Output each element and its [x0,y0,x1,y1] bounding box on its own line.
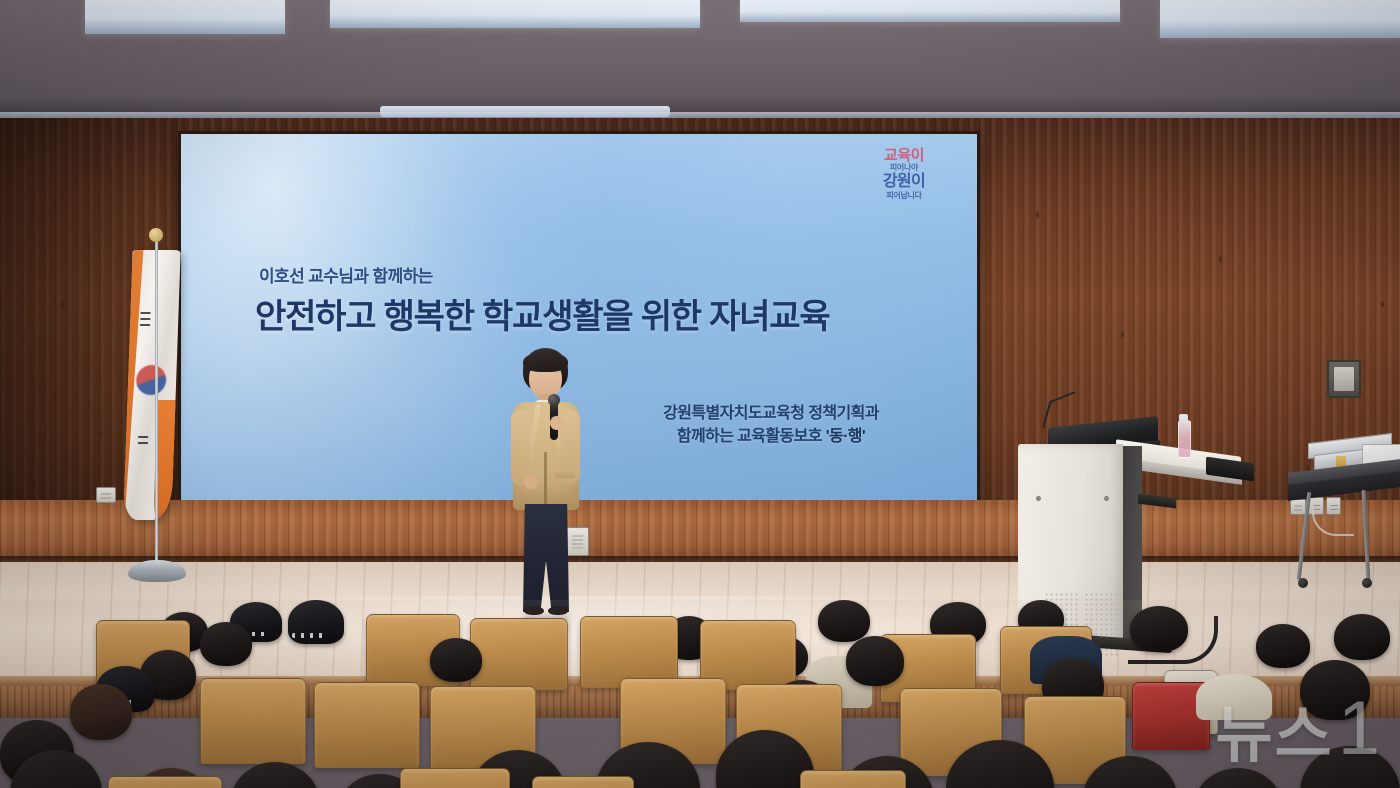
speaker-left-arm [511,410,530,486]
podium-lock-knob[interactable] [1036,496,1041,501]
taeguk-symbol [136,365,167,395]
audience-head [818,600,870,642]
audience-head [230,762,320,788]
watermark-numeral: 1 [1338,699,1382,758]
audience-seating-area [0,600,1400,788]
table-caster-wheel [1298,578,1308,588]
table-leg [1362,490,1371,580]
microphone-head-icon [548,394,560,406]
audience-chair[interactable] [200,678,306,764]
audience-head [1256,624,1310,668]
wood-knot [98,430,103,439]
watermark-text: 뉴스 [1216,684,1334,774]
wall-outlet[interactable] [96,487,116,503]
news1-watermark: 뉴스 1 [1216,684,1382,774]
audience-head [1334,614,1390,660]
audience-head [1130,606,1188,652]
audience-head [846,636,904,686]
skylight-panel [330,0,700,28]
speaker-person [495,348,595,628]
speaker-jacket-placket [544,452,547,510]
podium-lock-knob[interactable] [1104,496,1109,501]
audience-chair[interactable] [108,776,222,788]
wood-knot [1035,210,1040,219]
speaker-trousers [523,504,569,612]
flag-finial-ornament [149,228,163,242]
ceiling-light-bar [380,106,670,117]
audience-chair[interactable] [314,682,420,768]
auditorium-photo-scene: 교육이 피어나야 강원이 피어납니다 이호선 교수님과 함께하는 안전하고 행복… [0,0,1400,788]
skylight-panel [85,0,285,34]
korean-flag-cloth [123,250,180,520]
flag-trigram [140,318,150,320]
podium-microphone-stem [1042,400,1052,427]
audience-chair[interactable] [400,768,510,788]
audience-head [430,638,482,682]
speaker-hair-fringe [523,352,568,372]
audience-head [70,684,132,740]
table-caster-wheel [1362,578,1372,588]
flag-trigram [138,442,148,444]
wood-knot [60,300,65,309]
table-cable [1312,498,1354,536]
speaker-left-hand [524,476,538,489]
side-equipment-table [1288,428,1400,603]
skylight-panel [1160,0,1400,38]
wall-control-panel[interactable] [1327,360,1361,398]
audience-chair[interactable] [532,776,634,788]
flag-pole [155,232,158,572]
skylight-panel [740,0,1120,22]
audience-chair[interactable] [470,618,568,690]
flag-trigram [138,436,148,438]
podium-keyboard-tray[interactable] [1138,494,1176,509]
flag-trigram [140,312,150,314]
speaker-jacket-pocket [555,470,575,478]
water-bottle [1178,420,1191,458]
audience-head [288,600,344,644]
wood-knot [1120,330,1125,339]
audience-head [200,622,252,666]
audience-chair[interactable] [800,770,906,788]
speaker-right-hand [550,416,563,430]
table-leg [1297,492,1312,580]
flag-trigram [140,324,150,326]
wood-knot [1380,300,1385,309]
flag-stand-base [128,560,186,582]
wood-knot [1218,255,1223,264]
